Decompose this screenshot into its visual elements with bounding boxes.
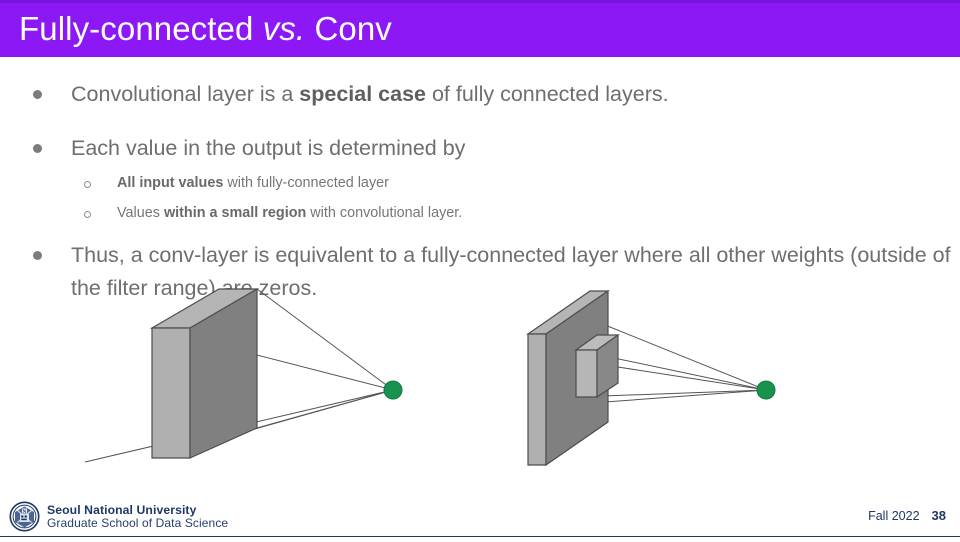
bullet-marker-circle [84, 172, 117, 188]
title-tail: Conv [305, 10, 392, 47]
diagram-area [0, 262, 960, 487]
bullet-marker-disc [33, 132, 71, 153]
conv-slab-side-face [528, 334, 546, 465]
page-title: Fully-connected vs. Conv [19, 9, 392, 49]
slide-footer: N Seoul National University Graduate Sch… [0, 495, 960, 542]
title-italic: vs. [263, 10, 305, 47]
university-name: Seoul National University [47, 503, 228, 517]
bullet-marker-disc [33, 239, 71, 260]
sub-bullet-item-2: Values within a small region with convol… [0, 202, 960, 225]
title-banner: Fully-connected vs. Conv [0, 0, 960, 57]
bullet-text-1: Convolutional layer is a special case of… [71, 78, 669, 111]
fc-slab-side-face [152, 328, 190, 458]
sub-bullet-text-2: Values within a small region with convol… [117, 202, 462, 225]
title-main: Fully-connected [19, 10, 263, 47]
fc-output-node [384, 381, 402, 399]
convolution-diagram [528, 291, 775, 465]
institution-name: Seoul National University Graduate Schoo… [47, 503, 228, 531]
bullet-item-2: Each value in the output is determined b… [0, 132, 960, 165]
conv-patch-side-face [576, 350, 597, 397]
bullet-marker-circle [84, 202, 117, 218]
footer-meta: Fall 2022 38 [868, 508, 946, 523]
school-name: Graduate School of Data Science [47, 517, 228, 531]
institution-logo: N Seoul National University Graduate Sch… [9, 501, 228, 532]
bullet-marker-disc [33, 78, 71, 99]
sub-bullet-text-1: All input values with fully-connected la… [117, 172, 389, 195]
conv-output-node [757, 381, 775, 399]
term-label: Fall 2022 [868, 509, 919, 523]
snu-shield-icon: N [9, 501, 40, 532]
slide: Fully-connected vs. Conv Convolutional l… [0, 0, 960, 542]
bullet-item-1: Convolutional layer is a special case of… [0, 78, 960, 111]
page-number: 38 [932, 508, 946, 523]
sub-bullet-item-1: All input values with fully-connected la… [0, 172, 960, 195]
bullet-text-2: Each value in the output is determined b… [71, 132, 465, 165]
footer-divider [0, 536, 960, 538]
svg-text:N: N [23, 509, 27, 515]
fully-connected-diagram [85, 289, 402, 462]
